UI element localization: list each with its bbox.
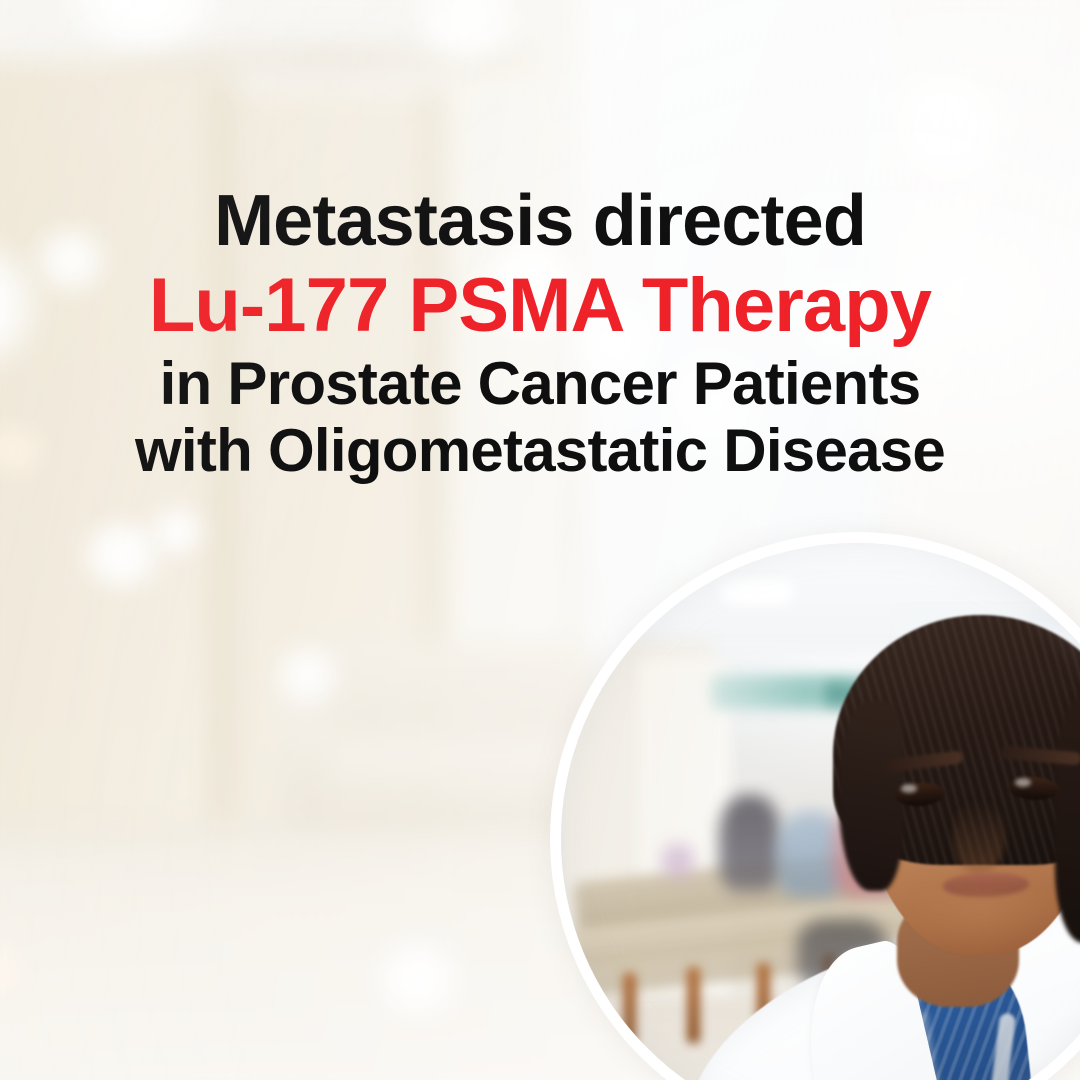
nose [953, 799, 1005, 875]
chin-shading [907, 889, 1057, 953]
headline-line-2-accent: Lu-177 PSMA Therapy [50, 269, 1030, 343]
headline-line-3: in Prostate Cancer Patients [50, 355, 1030, 414]
doctor-figure [561, 543, 1080, 1080]
doctor-portrait-circle [550, 532, 1080, 1080]
headline-line-1: Metastasis directed [50, 186, 1030, 257]
eye-highlight-left [901, 784, 917, 793]
headline-block: Metastasis directed Lu-177 PSMA Therapy … [50, 186, 1030, 481]
headline-line-4: with Oligometastatic Disease [50, 422, 1030, 481]
promo-poster: Metastasis directed Lu-177 PSMA Therapy … [0, 0, 1080, 1080]
hair-temple [839, 701, 903, 891]
eye-highlight-right [1015, 778, 1031, 787]
doctor-portrait-image [561, 543, 1080, 1080]
